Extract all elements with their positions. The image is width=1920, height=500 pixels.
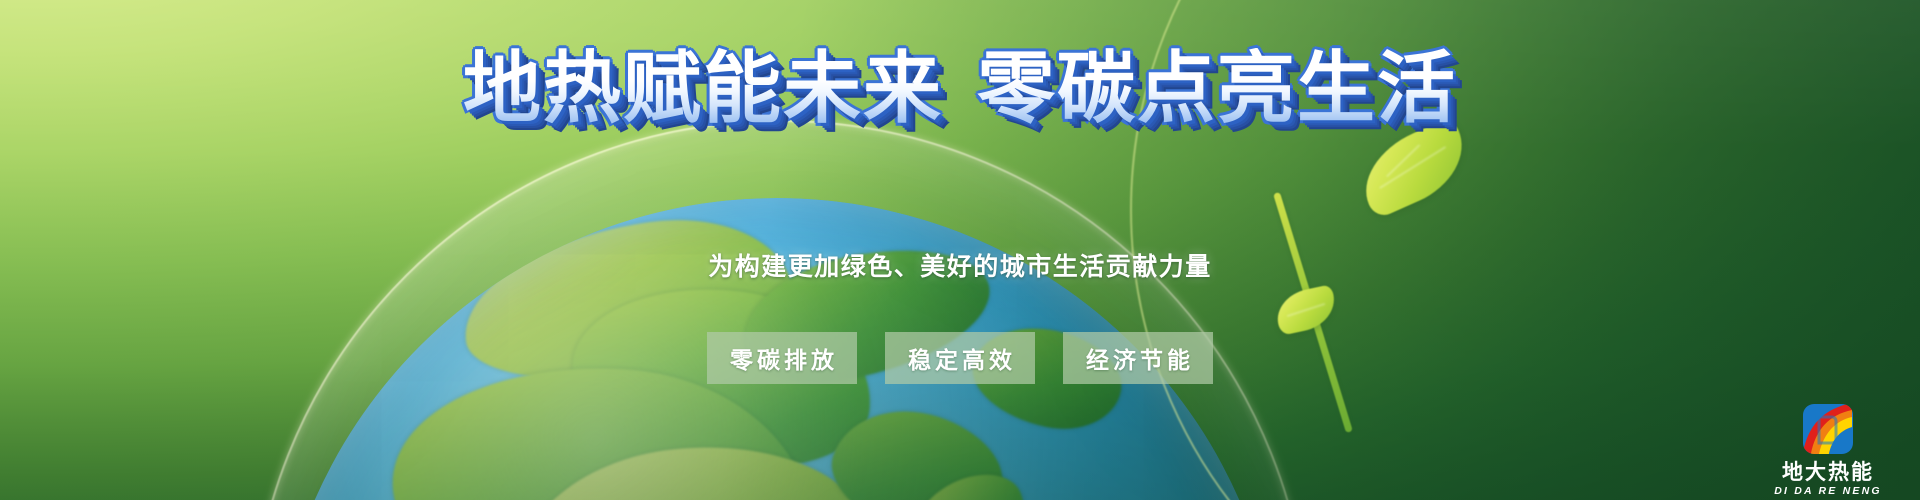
feature-badge-stable-efficient[interactable]: 稳定高效: [885, 332, 1035, 384]
headline-part1: 地热赋能未来: [463, 44, 943, 134]
feature-badge-economical[interactable]: 经济节能: [1063, 332, 1213, 384]
banner-subtitle: 为构建更加绿色、美好的城市生活贡献力量: [0, 247, 1920, 283]
logo-name-en: DI DA RE NENG: [1760, 486, 1896, 497]
company-logo[interactable]: 地大热能 DI DA RE NENG: [1760, 401, 1896, 497]
feature-badge-list: 零碳排放 稳定高效 经济节能: [0, 332, 1920, 384]
headline-part2: 零碳点亮生活: [977, 44, 1457, 134]
logo-mark-icon: [1800, 401, 1856, 457]
feature-badge-zero-carbon[interactable]: 零碳排放: [707, 332, 857, 384]
sprout-graphic: [1262, 140, 1542, 430]
headline-face-layer: 地热赋能未来零碳点亮生活: [0, 48, 1920, 131]
logo-name-cn: 地大热能: [1760, 462, 1896, 483]
sprout-leaf-small: [1272, 284, 1339, 336]
hero-banner: 地热赋能未来零碳点亮生活 地热赋能未来零碳点亮生活 为构建更加绿色、美好的城市生…: [0, 0, 1920, 500]
banner-headline: 地热赋能未来零碳点亮生活 地热赋能未来零碳点亮生活: [0, 48, 1920, 131]
